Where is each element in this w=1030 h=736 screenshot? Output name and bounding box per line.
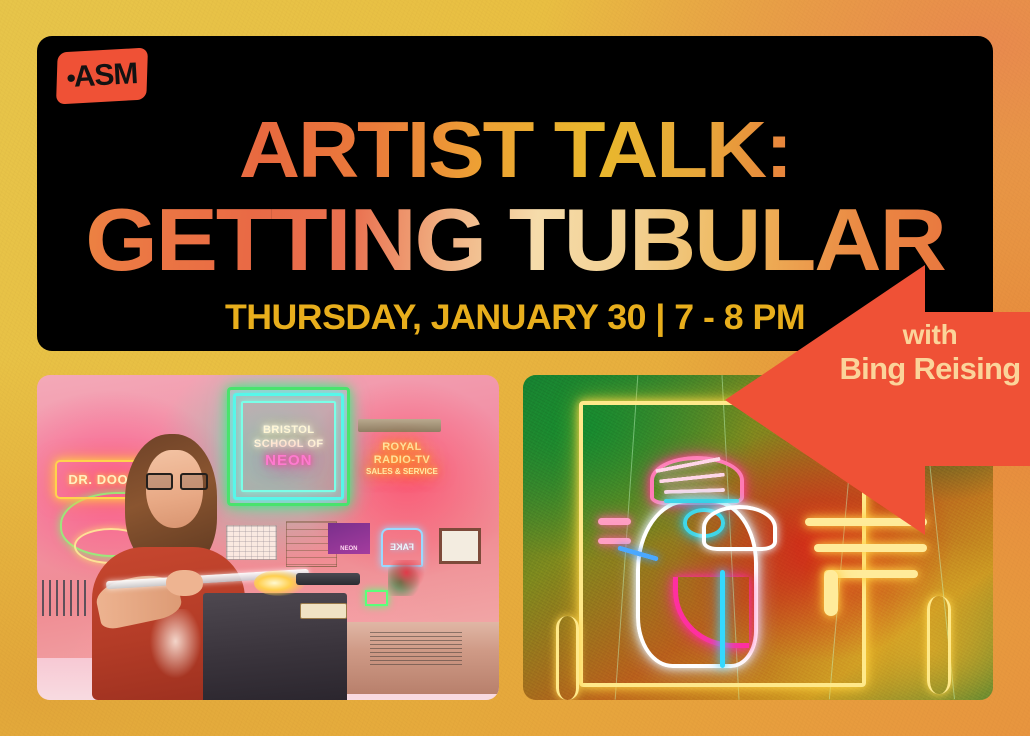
neon-poster: NEON: [328, 523, 370, 554]
royal-line-1: ROYAL: [382, 441, 422, 453]
bending-station-label: [300, 603, 346, 619]
speaker-credit: with Bing Reising: [830, 318, 1030, 388]
artist-hand: [166, 570, 203, 596]
workbench-paper-trays: [370, 632, 462, 668]
torch-body: [296, 573, 361, 584]
neon-squiggle-left: [556, 616, 580, 701]
asm-logo-mark: •ASM: [56, 48, 149, 105]
neon-poster-text: NEON: [340, 546, 357, 552]
artist-glasses: [146, 473, 208, 491]
arrow-polygon: [725, 265, 1030, 535]
arrow-shape: [718, 258, 1030, 540]
neon-bar-pink-2: [598, 538, 631, 545]
speaker-arrow-banner: with Bing Reising: [718, 258, 1030, 540]
bristol-line-3: NEON: [265, 452, 312, 469]
small-green-neon: [365, 590, 388, 606]
asm-logo-text: ASM: [73, 57, 138, 95]
speaker-credit-with: with: [830, 318, 1030, 351]
photo-neon-shop: DR. DOOM BRISTOL SCHOOL OF NEON ROYAL RA…: [37, 375, 499, 700]
bristol-line-1: BRISTOL: [263, 424, 315, 436]
glasses-lens-right: [180, 473, 207, 491]
neon-figure-cyan-line: [720, 570, 725, 668]
tool-rack: [42, 580, 88, 616]
neon-sign-royal-radio-tv: ROYAL RADIO-TV SALES & SERVICE: [356, 430, 448, 487]
page-title-line-1: ARTIST TALK:: [37, 110, 993, 190]
speaker-credit-name: Bing Reising: [830, 351, 1030, 388]
bristol-line-2: SCHOOL OF: [254, 438, 324, 450]
flower-vase: [388, 560, 425, 596]
neon-squiggle-right: [927, 596, 951, 694]
neon-bar-yellow-2: [814, 544, 927, 552]
royal-line-3: SALES & SERVICE: [366, 467, 438, 476]
royal-line-2: RADIO-TV: [374, 454, 430, 466]
neon-sign-fake-text: FAKE: [390, 542, 414, 552]
shirt-graphic: [148, 609, 203, 681]
neon-sign-bristol-school-of-neon: BRISTOL SCHOOL OF NEON: [233, 393, 344, 500]
photo-neon-shop-scene: DR. DOOM BRISTOL SCHOOL OF NEON ROYAL RA…: [37, 375, 499, 700]
asm-logo[interactable]: •ASM: [57, 50, 147, 102]
wall-calendar: [226, 525, 277, 561]
glasses-lens-left: [146, 473, 173, 491]
neon-bar-yellow-3: [824, 570, 918, 578]
neon-bar-yellow-4: [824, 570, 838, 616]
framed-certificate: [439, 528, 481, 564]
neon-bar-pink-1: [598, 518, 631, 525]
